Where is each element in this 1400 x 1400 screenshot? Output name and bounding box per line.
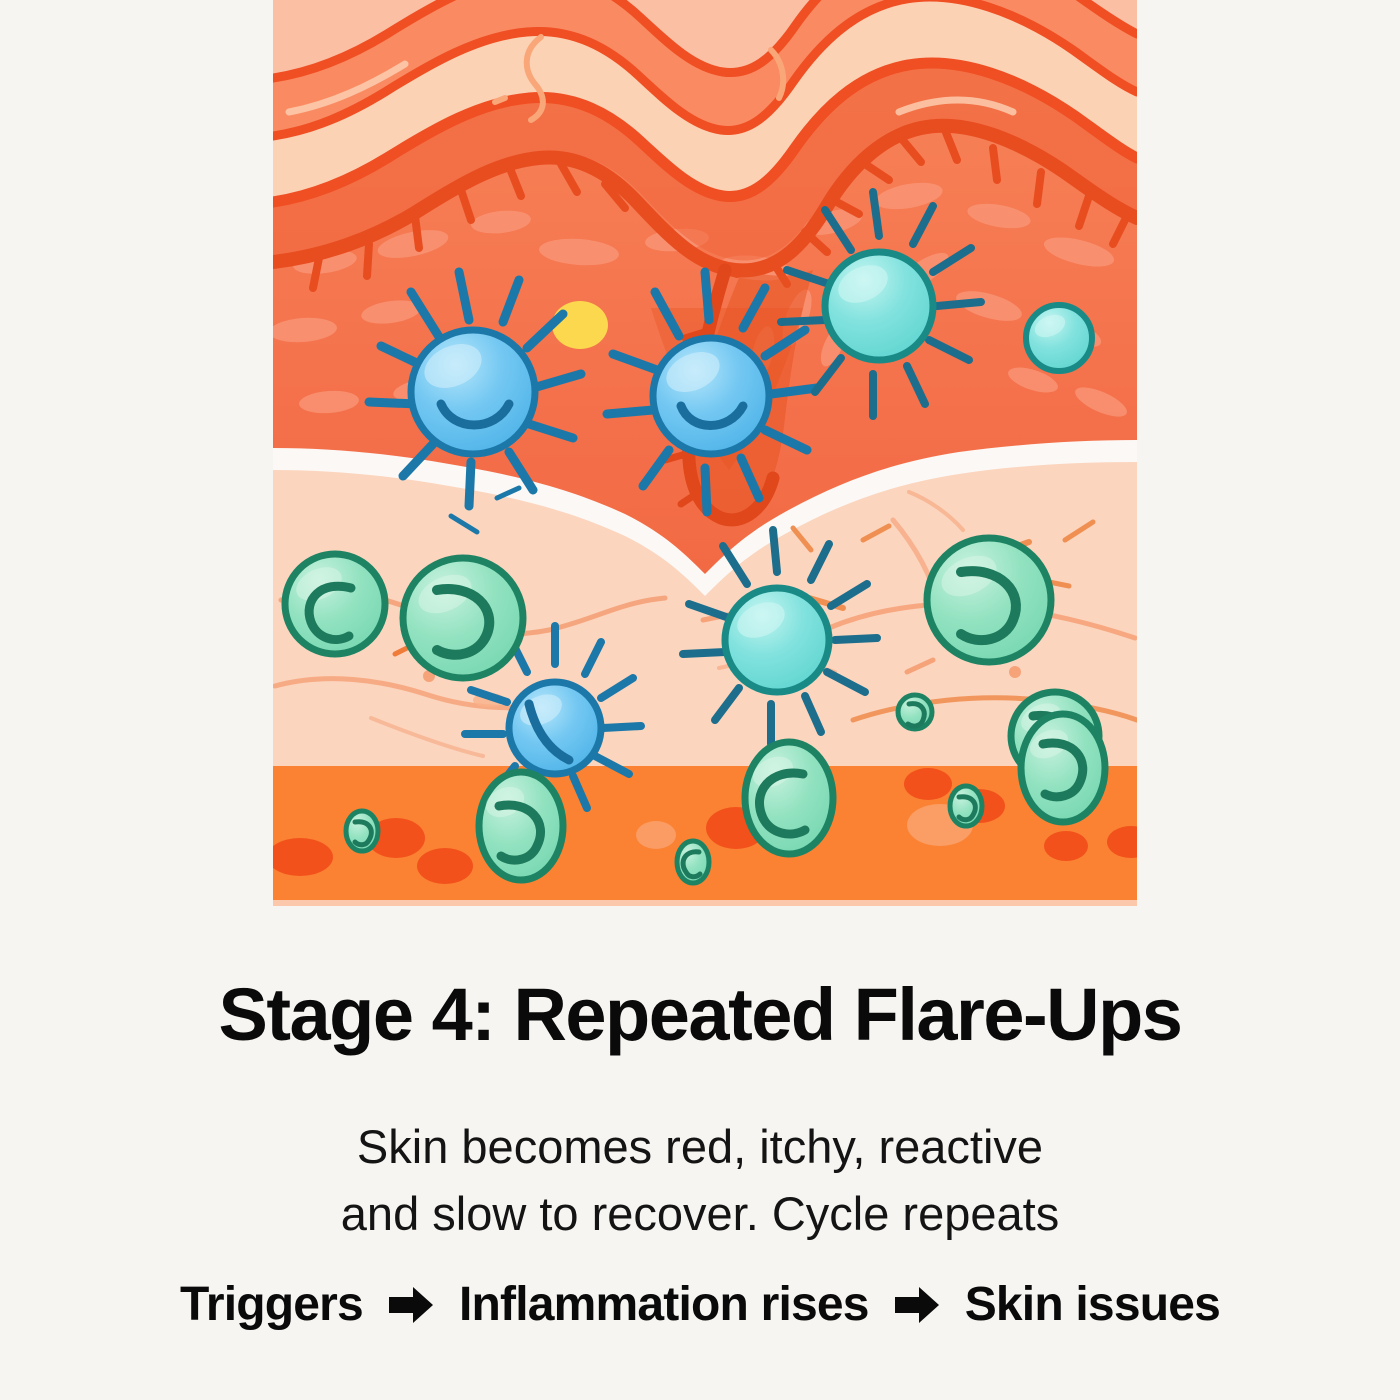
mint-cell-left-2 (403, 558, 523, 678)
mint-cell-fat-3 (1021, 714, 1105, 822)
mint-cell-right-1 (927, 538, 1051, 662)
flow-sequence: Triggers Inflammation rises Skin issues (0, 1247, 1400, 1332)
subtitle-line-2: and slow to recover. Cycle repeats (0, 1181, 1400, 1248)
mint-cell-fat-tiny-1 (346, 811, 378, 851)
flow-step-inflammation: Inflammation rises (459, 1277, 869, 1332)
mint-cell-fat-1 (479, 772, 563, 880)
arrow-right-icon (385, 1279, 437, 1331)
flow-step-triggers: Triggers (180, 1277, 363, 1332)
mint-cell-fat-tiny-2 (677, 841, 709, 883)
subtitle-line-1: Skin becomes red, itchy, reactive (0, 1114, 1400, 1181)
mint-cell-fat-tiny-3 (950, 786, 982, 826)
mint-cell-tiny-right (898, 695, 932, 729)
skin-diagram-svg (273, 0, 1137, 906)
flow-step-skin-issues: Skin issues (965, 1277, 1220, 1332)
mint-cell-fat-2 (745, 742, 833, 854)
mint-cell-left-1 (285, 554, 385, 654)
caption-block: Stage 4: Repeated Flare-Ups Skin becomes… (0, 906, 1400, 1332)
yellow-cell-blob (552, 301, 608, 349)
page-title: Stage 4: Repeated Flare-Ups (0, 906, 1400, 1052)
immune-cell-cyan-small-right (1026, 305, 1092, 371)
skin-cross-section-illustration (273, 0, 1137, 906)
wisp-dot (495, 98, 505, 102)
page-subtitle: Skin becomes red, itchy, reactive and sl… (0, 1052, 1400, 1247)
arrow-right-icon-2 (891, 1279, 943, 1331)
